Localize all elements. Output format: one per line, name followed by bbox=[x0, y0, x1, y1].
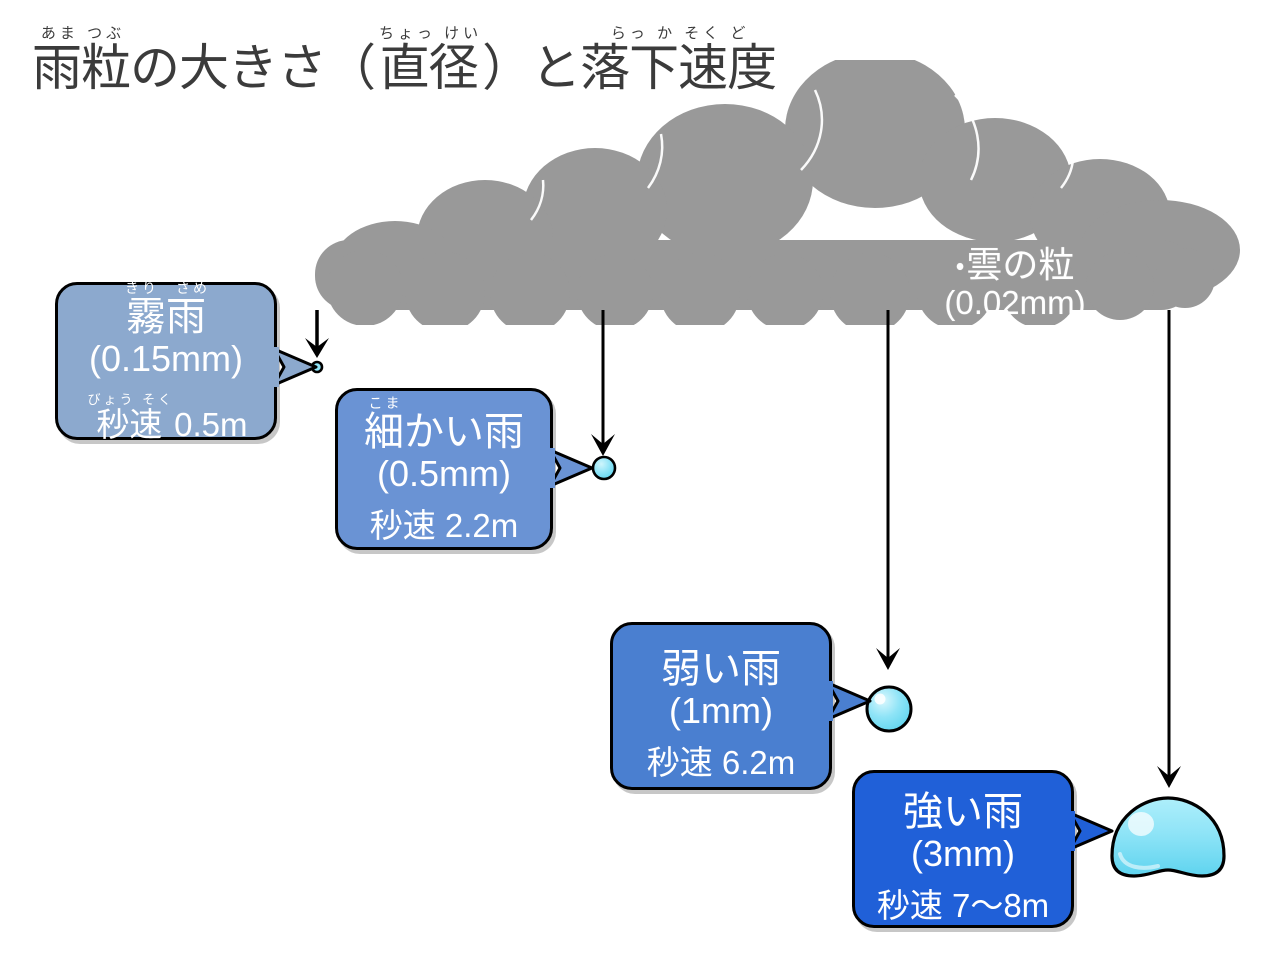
callout-tail-weak-rain bbox=[826, 678, 874, 724]
callout-size: (3mm) bbox=[911, 834, 1015, 874]
cloud-label-size: (0.02mm) bbox=[865, 285, 1165, 322]
callout-speed-value: 0.5m bbox=[174, 408, 247, 441]
ruby-group: 0.5m bbox=[174, 393, 247, 441]
callout-speed-row: びょう そく 秒速 0.5m bbox=[85, 393, 248, 441]
callout-name: 弱い雨 bbox=[661, 649, 781, 690]
ruby-group: こま 細 bbox=[364, 396, 404, 453]
title-segment-amatsubu: あま つぶ 雨粒 bbox=[32, 26, 130, 93]
callout-name-row: きり さめ 霧雨 bbox=[122, 281, 210, 338]
callout-size: (0.15mm) bbox=[89, 339, 243, 379]
ruby-group: 弱い雨 bbox=[661, 633, 781, 690]
callout-speed-label: 秒速 bbox=[96, 408, 162, 441]
callout-tail-strong-rain bbox=[1068, 808, 1116, 854]
cloud-shape: ・雲の粒 (0.02mm) bbox=[255, 60, 1255, 325]
callout-drizzle[interactable]: きり さめ 霧雨 (0.15mm) びょう そく 秒速 0.5m bbox=[55, 282, 277, 440]
callout-fine-rain[interactable]: こま 細 かい雨 (0.5mm) 秒速 2.2m bbox=[335, 388, 553, 550]
callout-weak-rain[interactable]: 弱い雨 (1mm) 秒速 6.2m bbox=[610, 622, 832, 790]
callout-speed: 秒速 2.2m bbox=[370, 509, 519, 542]
callout-name: 霧雨 bbox=[126, 297, 206, 338]
callout-name: 強い雨 bbox=[903, 792, 1023, 833]
cloud-bullet-dot: ・ bbox=[956, 250, 965, 280]
ruby-base: 雨粒 bbox=[32, 43, 130, 93]
cloud-label-name-line: ・雲の粒 bbox=[865, 245, 1165, 285]
callout-name: 細 bbox=[364, 412, 404, 453]
fall-arrow-fine-rain bbox=[588, 310, 618, 458]
callout-speed-row: 秒速 2.2m bbox=[370, 509, 519, 542]
cloud-label: ・雲の粒 (0.02mm) bbox=[865, 245, 1165, 322]
callout-speed: 秒速 7〜8m bbox=[877, 889, 1049, 922]
fall-arrow-weak-rain bbox=[873, 310, 903, 672]
cloud-label-name: 雲の粒 bbox=[966, 244, 1074, 285]
fall-arrow-strong-rain bbox=[1154, 310, 1184, 790]
ruby-group: びょう そく 秒速 bbox=[85, 393, 175, 441]
droplet-strong-rain bbox=[1098, 790, 1238, 890]
callout-size: (0.5mm) bbox=[377, 454, 511, 494]
callout-name-rest: かい雨 bbox=[404, 412, 524, 453]
ruby-group: きり さめ 霧雨 bbox=[122, 281, 210, 338]
callout-strong-rain[interactable]: 強い雨 (3mm) 秒速 7〜8m bbox=[852, 770, 1074, 928]
ruby-group: 強い雨 bbox=[903, 776, 1023, 833]
callout-name-row: 弱い雨 bbox=[661, 633, 781, 690]
callout-speed-row: 秒速 6.2m bbox=[647, 746, 796, 779]
callout-size: (1mm) bbox=[669, 691, 773, 731]
callout-name-row: こま 細 かい雨 bbox=[364, 396, 524, 453]
callout-speed: 秒速 6.2m bbox=[647, 746, 796, 779]
ruby-group: かい雨 bbox=[404, 396, 524, 453]
callout-name-row: 強い雨 bbox=[903, 776, 1023, 833]
callout-speed-row: 秒速 7〜8m bbox=[877, 889, 1049, 922]
callout-tail-drizzle bbox=[272, 345, 320, 389]
callout-tail-fine-rain bbox=[548, 445, 596, 491]
